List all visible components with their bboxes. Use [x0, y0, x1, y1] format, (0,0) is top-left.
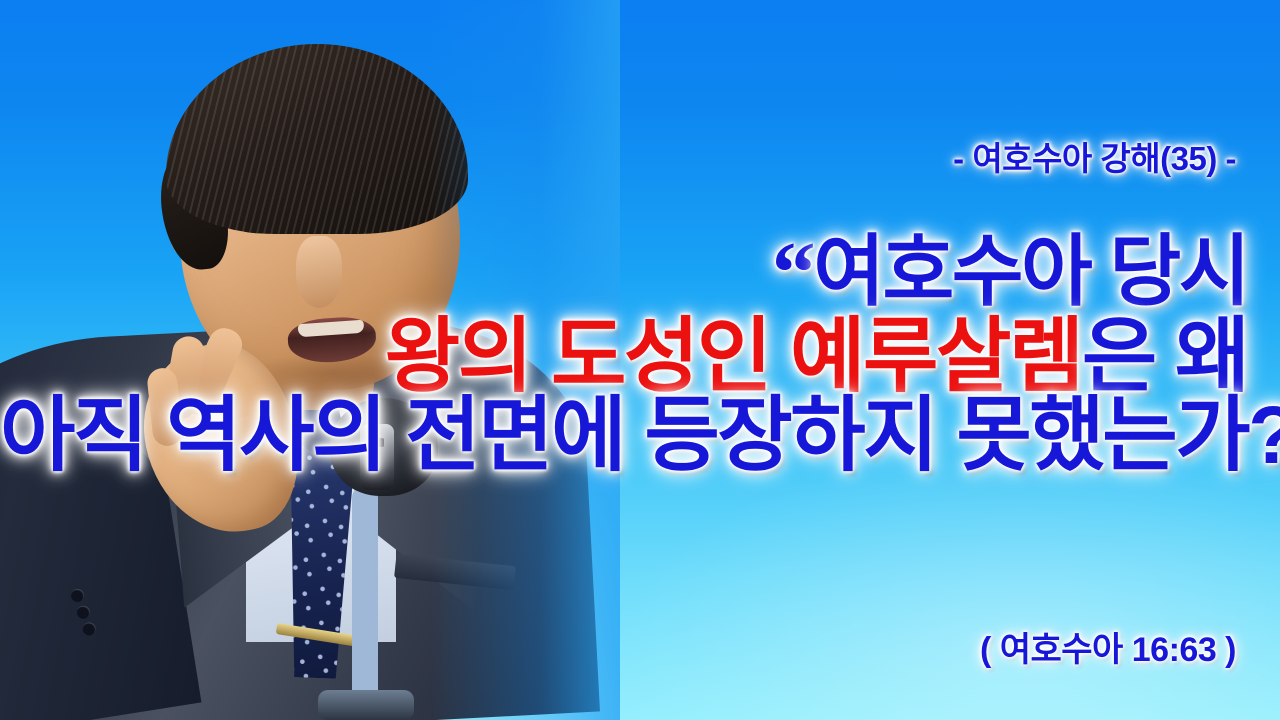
scripture-reference: ( 여호수아 16:63 ): [0, 622, 1236, 671]
headline-block: “여호수아 당시 왕의 도성인 예루살렘은 왜 아직 역사의 전면에 등장하지 …: [0, 228, 1248, 484]
series-label: - 여호수아 강해(35) -: [0, 132, 1236, 180]
open-quote-mark: “: [772, 225, 814, 322]
headline-line-1-text: 여호수아 당시: [813, 227, 1248, 315]
headline-line-1: “여호수아 당시: [0, 228, 1248, 320]
thumbnail-canvas: - 여호수아 강해(35) - “여호수아 당시 왕의 도성인 예루살렘은 왜 …: [0, 0, 1280, 720]
microphone-stand: [352, 486, 378, 720]
headline-line-2-blue: 은 왜: [1082, 311, 1248, 402]
headline-line-3: 아직 역사의 전면에 등장하지 못했는가?”: [0, 393, 1248, 485]
headline-line-2-red: 왕의 도성인 예루살렘: [385, 311, 1082, 402]
headline-line-3-text: 아직 역사의 전면에 등장하지 못했는가?: [0, 390, 1280, 481]
headline-line-2: 왕의 도성인 예루살렘은 왜: [0, 314, 1248, 399]
microphone-base: [318, 690, 414, 720]
